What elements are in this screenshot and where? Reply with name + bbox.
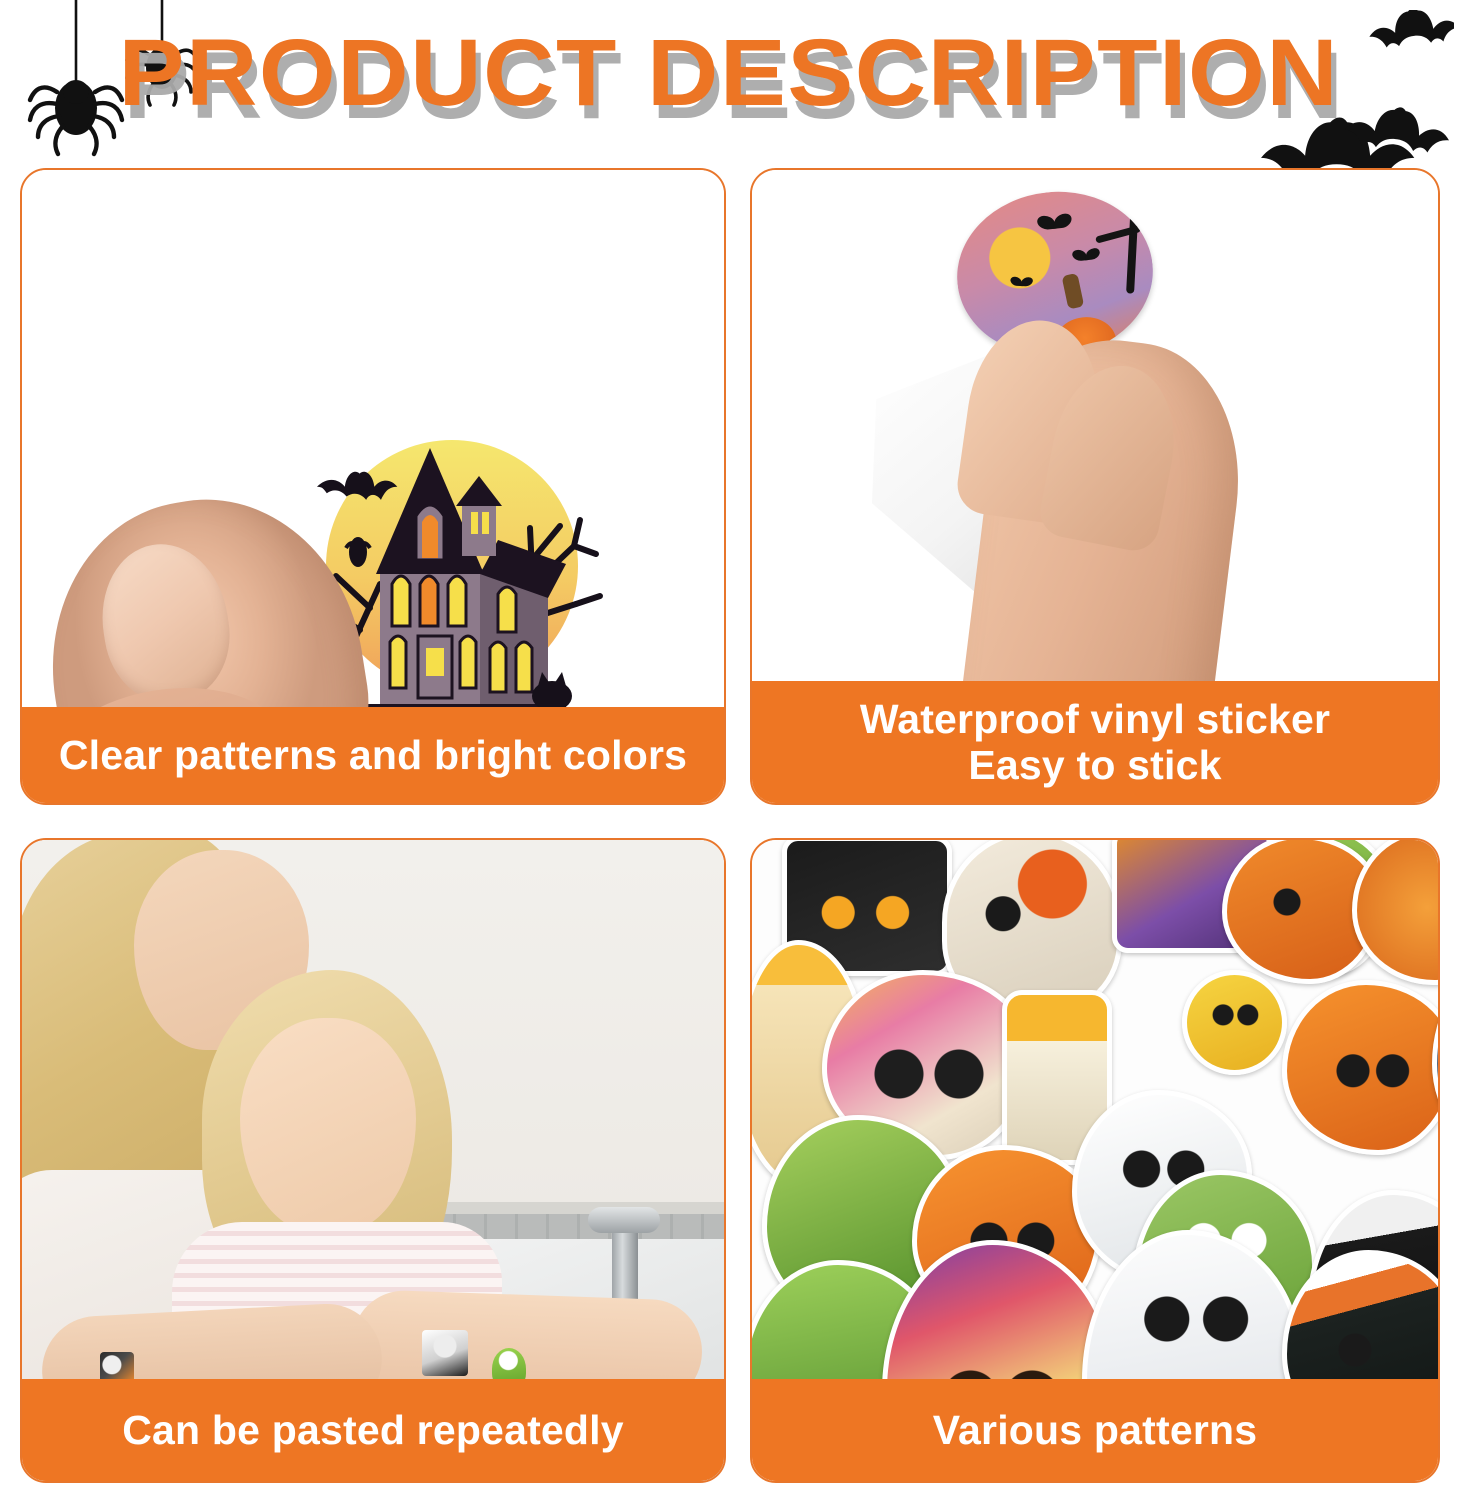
- caption-line: Various patterns: [933, 1408, 1257, 1454]
- panel-pasted-repeatedly: Can be pasted repeatedly: [20, 838, 726, 1483]
- sticker-bat-icon: [1010, 276, 1032, 286]
- caption-line: Can be pasted repeatedly: [122, 1408, 624, 1454]
- child-face: [240, 1018, 416, 1233]
- panel-2-caption: Waterproof vinyl sticker Easy to stick: [750, 681, 1440, 805]
- sticker-bat-icon: [1037, 213, 1072, 230]
- product-description-infographic: PRODUCT DESCRIPTION: [0, 0, 1458, 1488]
- faucet-handle: [588, 1207, 660, 1233]
- page-title-wrap: PRODUCT DESCRIPTION: [0, 26, 1458, 121]
- panel-clear-patterns: Clear patterns and bright colors: [20, 168, 726, 805]
- caption-line: Clear patterns and bright colors: [59, 733, 687, 779]
- panel-1-caption: Clear patterns and bright colors: [20, 707, 726, 805]
- page-title: PRODUCT DESCRIPTION: [119, 26, 1340, 121]
- applied-sticker: [422, 1330, 468, 1376]
- panel-4-caption: Various patterns: [750, 1379, 1440, 1483]
- panel-various-patterns: Various patterns: [750, 838, 1440, 1483]
- panel-2-photo: [752, 170, 1438, 681]
- caption-line: Waterproof vinyl sticker: [860, 697, 1330, 743]
- sticker-smiley-pumpkin: [1182, 970, 1287, 1075]
- sticker-tree: [1126, 182, 1140, 294]
- sticker-jack-o-lantern: [1282, 980, 1438, 1155]
- sticker-bat-icon: [1072, 248, 1100, 262]
- thumbnail: [91, 535, 239, 711]
- panel-1-photo: [22, 170, 724, 707]
- caption-line: Easy to stick: [860, 743, 1330, 789]
- sticker-pumpkin-stem: [1061, 273, 1084, 310]
- panel-3-caption: Can be pasted repeatedly: [20, 1379, 726, 1483]
- panel-waterproof-vinyl: Waterproof vinyl sticker Easy to stick: [750, 168, 1440, 805]
- header: PRODUCT DESCRIPTION: [0, 0, 1458, 160]
